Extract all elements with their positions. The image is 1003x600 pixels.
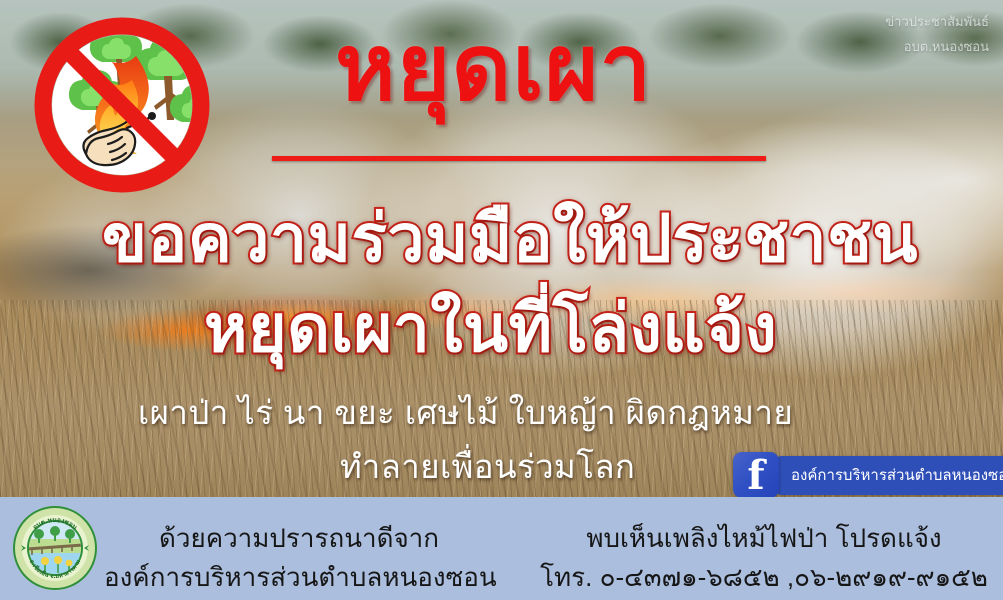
kicker-line-1: ข่าวประชาสัมพันธ์ bbox=[885, 10, 989, 35]
poster-canvas: ข่าวประชาสัมพันธ์ อบต.หนองซอน bbox=[0, 0, 1003, 600]
footer-right-column: พบเห็นเพลิงไหม้ไฟป่า โปรดแจ้ง โทร. ๐-๔๓๗… bbox=[538, 519, 990, 597]
facebook-page-badge[interactable]: f องค์การบริหารส่วนตำบลหนองซอน bbox=[733, 452, 1003, 498]
announcement-kicker: ข่าวประชาสัมพันธ์ อบต.หนองซอน bbox=[885, 10, 989, 59]
subtext-line-1: เผาป่า ไร่ นา ขยะ เศษไม้ ใบหญ้า ผิดกฎหมา… bbox=[138, 386, 793, 439]
facebook-icon[interactable]: f bbox=[733, 452, 779, 498]
footer-right-line-1: พบเห็นเพลิงไหม้ไฟป่า โปรดแจ้ง bbox=[538, 519, 990, 558]
footer-bar: อบต.หนองซอน อ.เชียงยืน จ.มหาสารคาม ด้วยค… bbox=[0, 497, 1003, 600]
footer-left-column: ด้วยความปรารถนาดีจาก องค์การบริหารส่วนตำ… bbox=[104, 519, 494, 597]
display-line-2: หยุดเผาในที่โล่งแจ้ง bbox=[204, 276, 777, 381]
page-title-headline: หยุดเผา bbox=[335, 22, 652, 116]
no-open-burning-icon bbox=[24, 14, 220, 196]
kicker-line-2: อบต.หนองซอน bbox=[885, 35, 989, 60]
facebook-page-name[interactable]: องค์การบริหารส่วนตำบลหนองซอน bbox=[777, 456, 1003, 495]
facebook-f-glyph: f bbox=[733, 454, 779, 498]
red-divider-rule bbox=[272, 156, 766, 161]
footer-left-line-2: องค์การบริหารส่วนตำบลหนองซอน bbox=[104, 558, 494, 597]
footer-left-line-1: ด้วยความปรารถนาดีจาก bbox=[104, 519, 494, 558]
footer-right-phone: โทร. ๐-๔๓๗๑-๖๘๕๒ ,๐๖-๒๙๑๙-๙๑๕๒ bbox=[538, 558, 990, 597]
municipality-seal-icon: อบต.หนองซอน อ.เชียงยืน จ.มหาสารคาม bbox=[12, 505, 98, 591]
subtext-line-2: ทำลายเพื่อนร่วมโลก bbox=[340, 440, 635, 493]
